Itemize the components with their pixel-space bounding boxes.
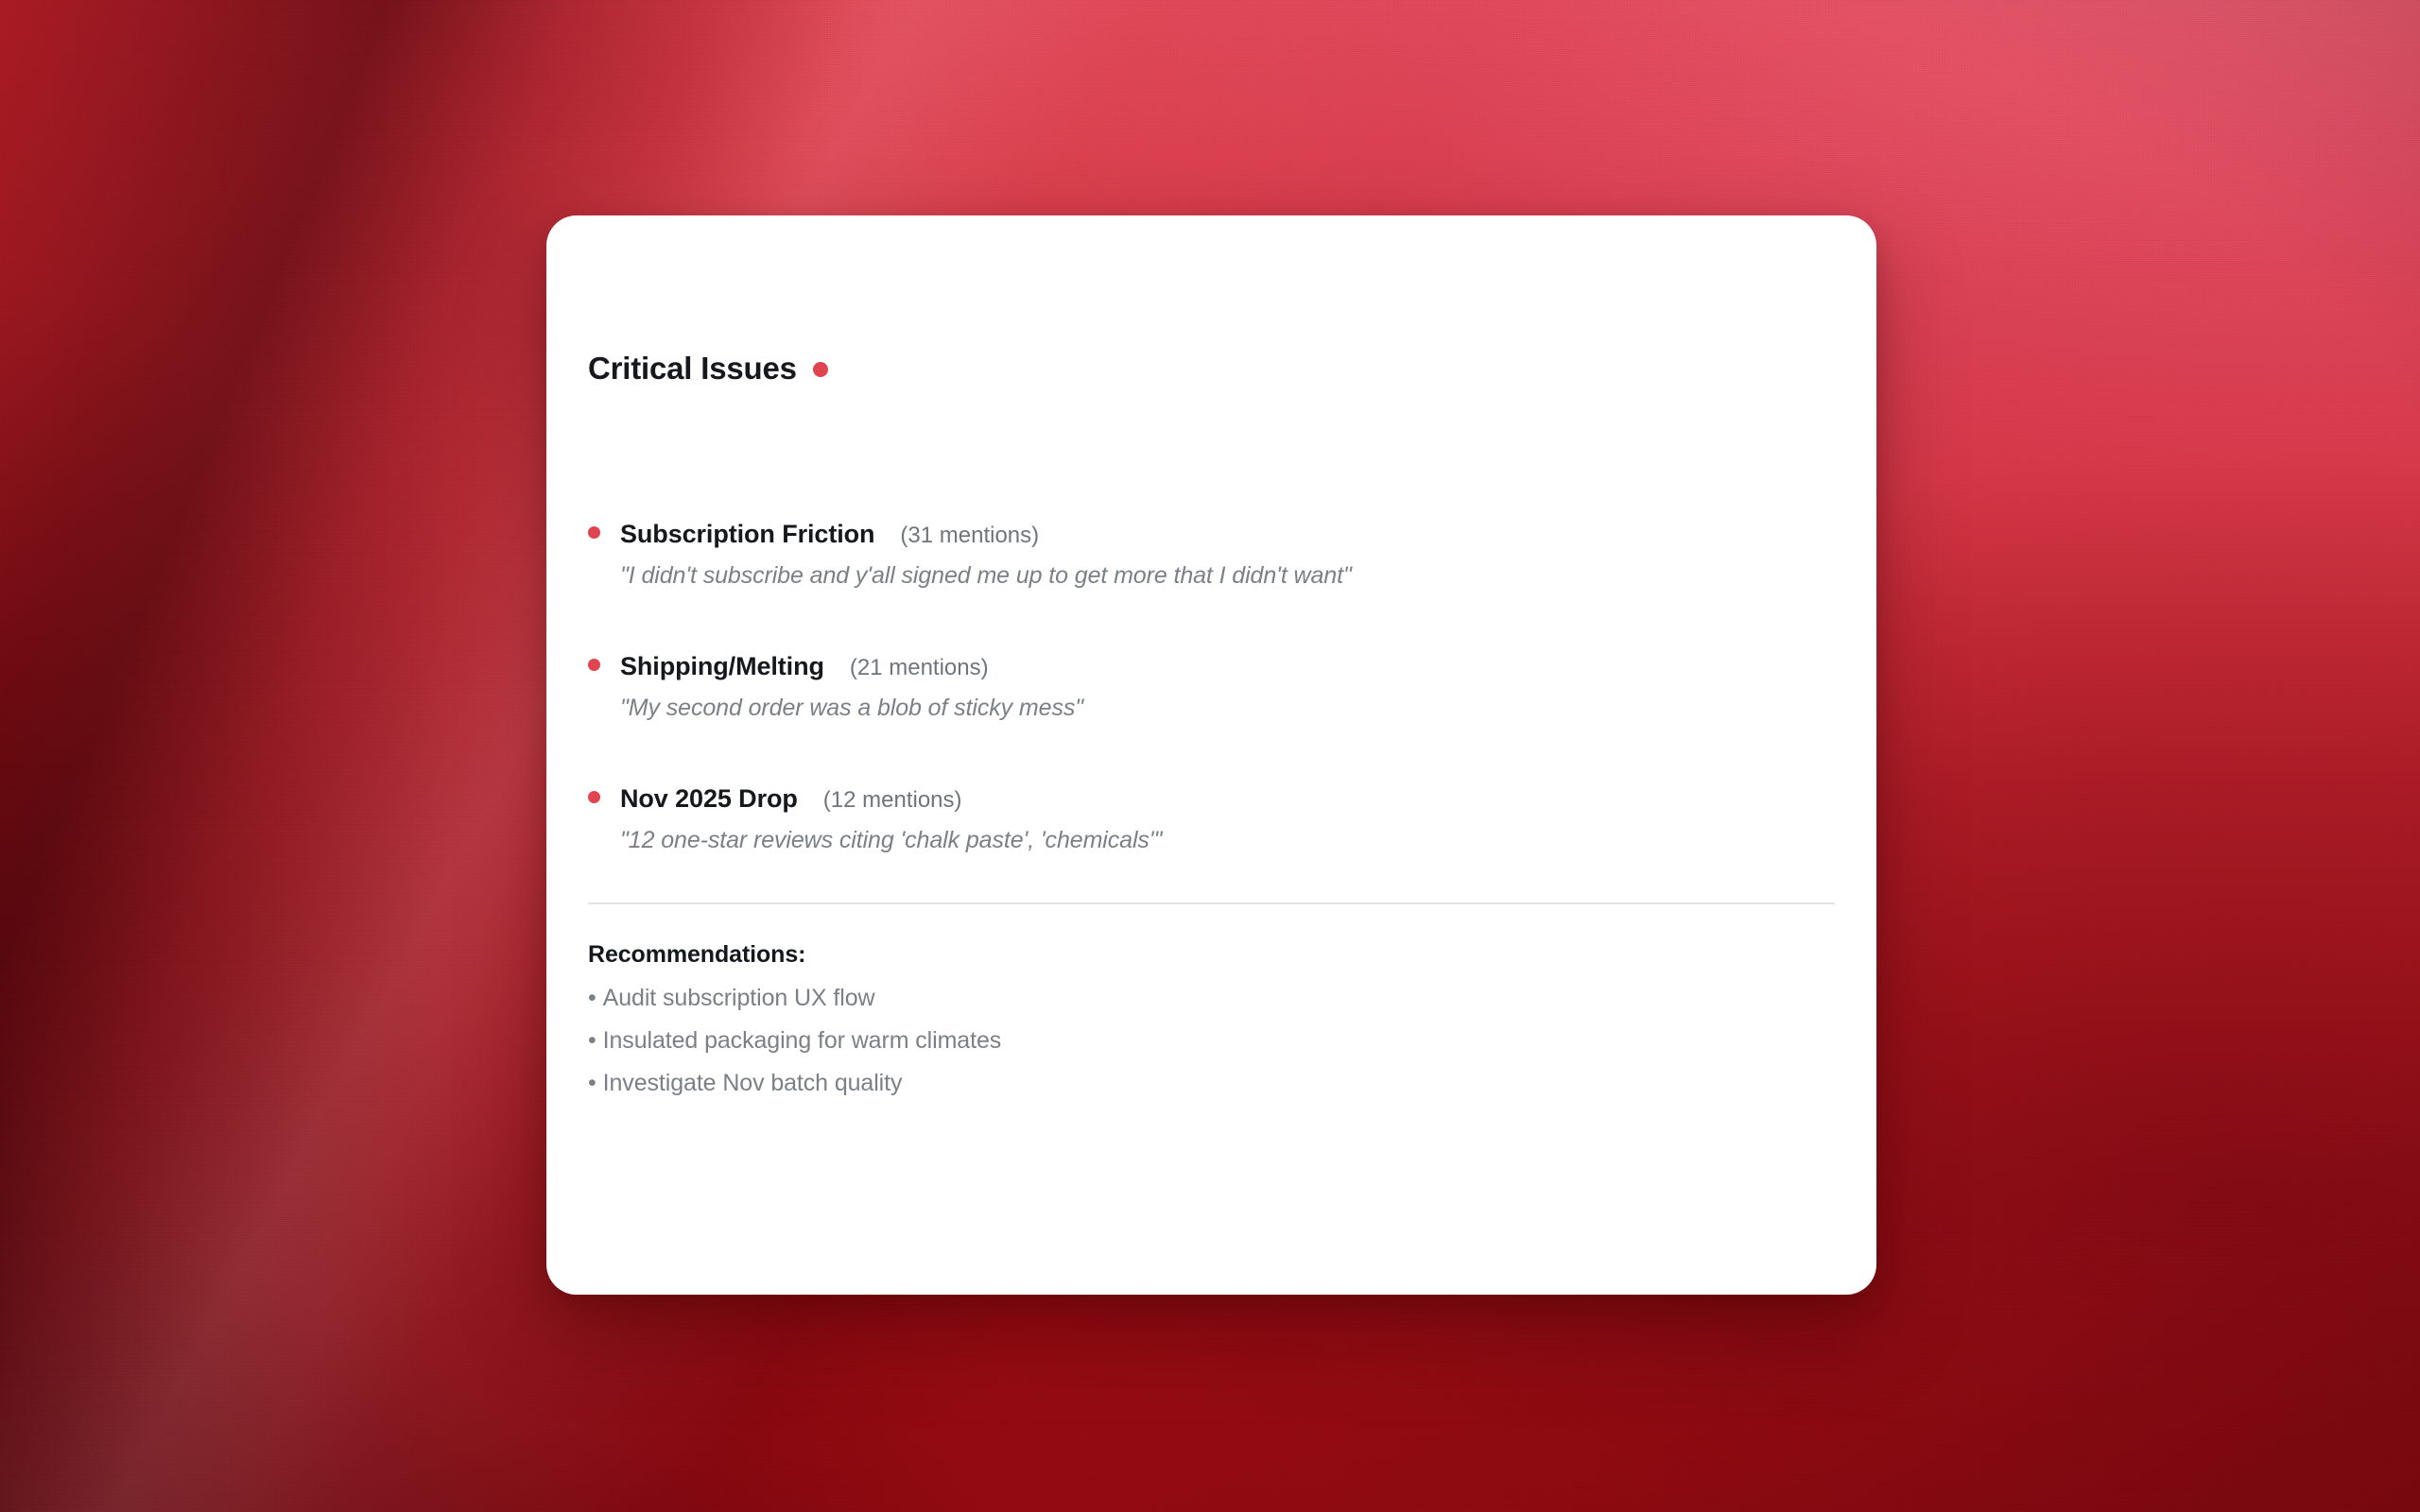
list-item: •Insulated packaging for warm climates <box>588 1029 1835 1053</box>
issue-quote: "12 one-star reviews citing 'chalk paste… <box>620 827 1835 854</box>
list-item[interactable]: Subscription Friction (31 mentions) "I d… <box>588 520 1835 652</box>
recommendations-title: Recommendations: <box>588 941 1835 969</box>
issues-list: Subscription Friction (31 mentions) "I d… <box>588 520 1835 917</box>
issue-title: Nov 2025 Drop <box>620 784 798 814</box>
issue-title: Shipping/Melting <box>620 652 824 681</box>
issue-header: Subscription Friction (31 mentions) <box>588 520 1835 549</box>
issue-mention-count: (21 mentions) <box>850 655 989 681</box>
critical-issues-card: Critical Issues Subscription Friction (3… <box>546 215 1876 1295</box>
issue-quote: "My second order was a blob of sticky me… <box>620 695 1835 722</box>
issue-mention-count: (12 mentions) <box>823 787 962 814</box>
bullet-dot-icon <box>588 526 600 539</box>
list-item: •Investigate Nov batch quality <box>588 1072 1835 1095</box>
alert-dot-icon <box>813 362 828 377</box>
issue-header: Shipping/Melting (21 mentions) <box>588 652 1835 681</box>
bullet-dot-icon <box>588 791 600 803</box>
page-title: Critical Issues <box>588 352 797 384</box>
bullet-glyph-icon: • <box>588 1072 596 1095</box>
card-header: Critical Issues <box>588 352 828 384</box>
recommendation-text: Insulated packaging for warm climates <box>603 1027 1002 1054</box>
issue-mention-count: (31 mentions) <box>900 523 1039 549</box>
list-item[interactable]: Nov 2025 Drop (12 mentions) "12 one-star… <box>588 784 1835 917</box>
recommendation-text: Investigate Nov batch quality <box>603 1070 903 1096</box>
list-item[interactable]: Shipping/Melting (21 mentions) "My secon… <box>588 652 1835 784</box>
issue-header: Nov 2025 Drop (12 mentions) <box>588 784 1835 814</box>
bullet-glyph-icon: • <box>588 1029 596 1053</box>
bullet-dot-icon <box>588 659 600 671</box>
issue-title: Subscription Friction <box>620 520 874 549</box>
issue-quote: "I didn't subscribe and y'all signed me … <box>620 562 1835 590</box>
recommendation-text: Audit subscription UX flow <box>603 985 875 1011</box>
recommendations-section: Recommendations: •Audit subscription UX … <box>588 941 1835 1114</box>
bullet-glyph-icon: • <box>588 987 596 1010</box>
card-content: Critical Issues Subscription Friction (3… <box>588 215 1835 1295</box>
list-item: •Audit subscription UX flow <box>588 987 1835 1010</box>
section-divider <box>588 902 1835 904</box>
